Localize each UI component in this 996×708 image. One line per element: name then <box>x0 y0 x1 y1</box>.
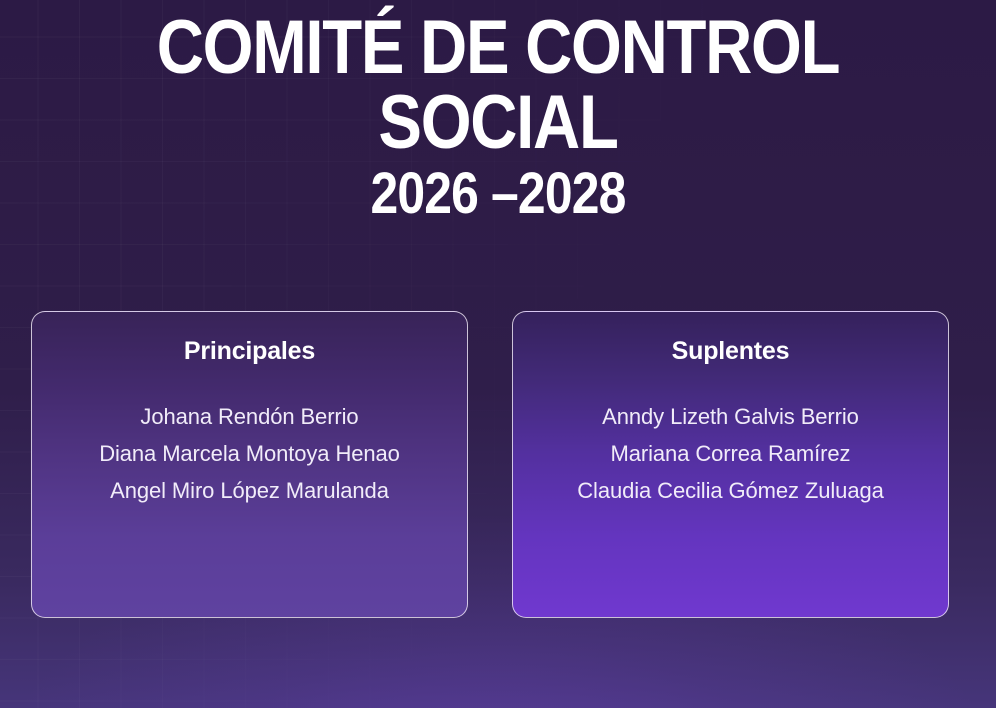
card-principales-heading: Principales <box>32 338 467 366</box>
title-line-secondary: SOCIAL <box>70 87 927 160</box>
list-item: Claudia Cecilia Gómez Zuluaga <box>513 472 948 509</box>
list-item: Angel Miro López Marulanda <box>32 472 467 509</box>
list-item: Johana Rendón Berrio <box>32 398 467 435</box>
committee-cards-row: Principales Johana Rendón Berrio Diana M… <box>31 311 949 618</box>
card-suplentes: Suplentes Anndy Lizeth Galvis Berrio Mar… <box>512 311 949 618</box>
card-suplentes-heading: Suplentes <box>513 338 948 366</box>
card-principales: Principales Johana Rendón Berrio Diana M… <box>31 311 468 618</box>
list-item: Anndy Lizeth Galvis Berrio <box>513 398 948 435</box>
page-title: COMITÉ DE CONTROL SOCIAL 2026 –2028 <box>0 12 996 222</box>
list-item: Diana Marcela Montoya Henao <box>32 435 467 472</box>
card-principales-name-list: Johana Rendón Berrio Diana Marcela Monto… <box>32 398 467 509</box>
title-line-period: 2026 –2028 <box>70 166 927 222</box>
card-suplentes-name-list: Anndy Lizeth Galvis Berrio Mariana Corre… <box>513 398 948 509</box>
title-line-primary: COMITÉ DE CONTROL <box>70 12 927 85</box>
list-item: Mariana Correa Ramírez <box>513 435 948 472</box>
